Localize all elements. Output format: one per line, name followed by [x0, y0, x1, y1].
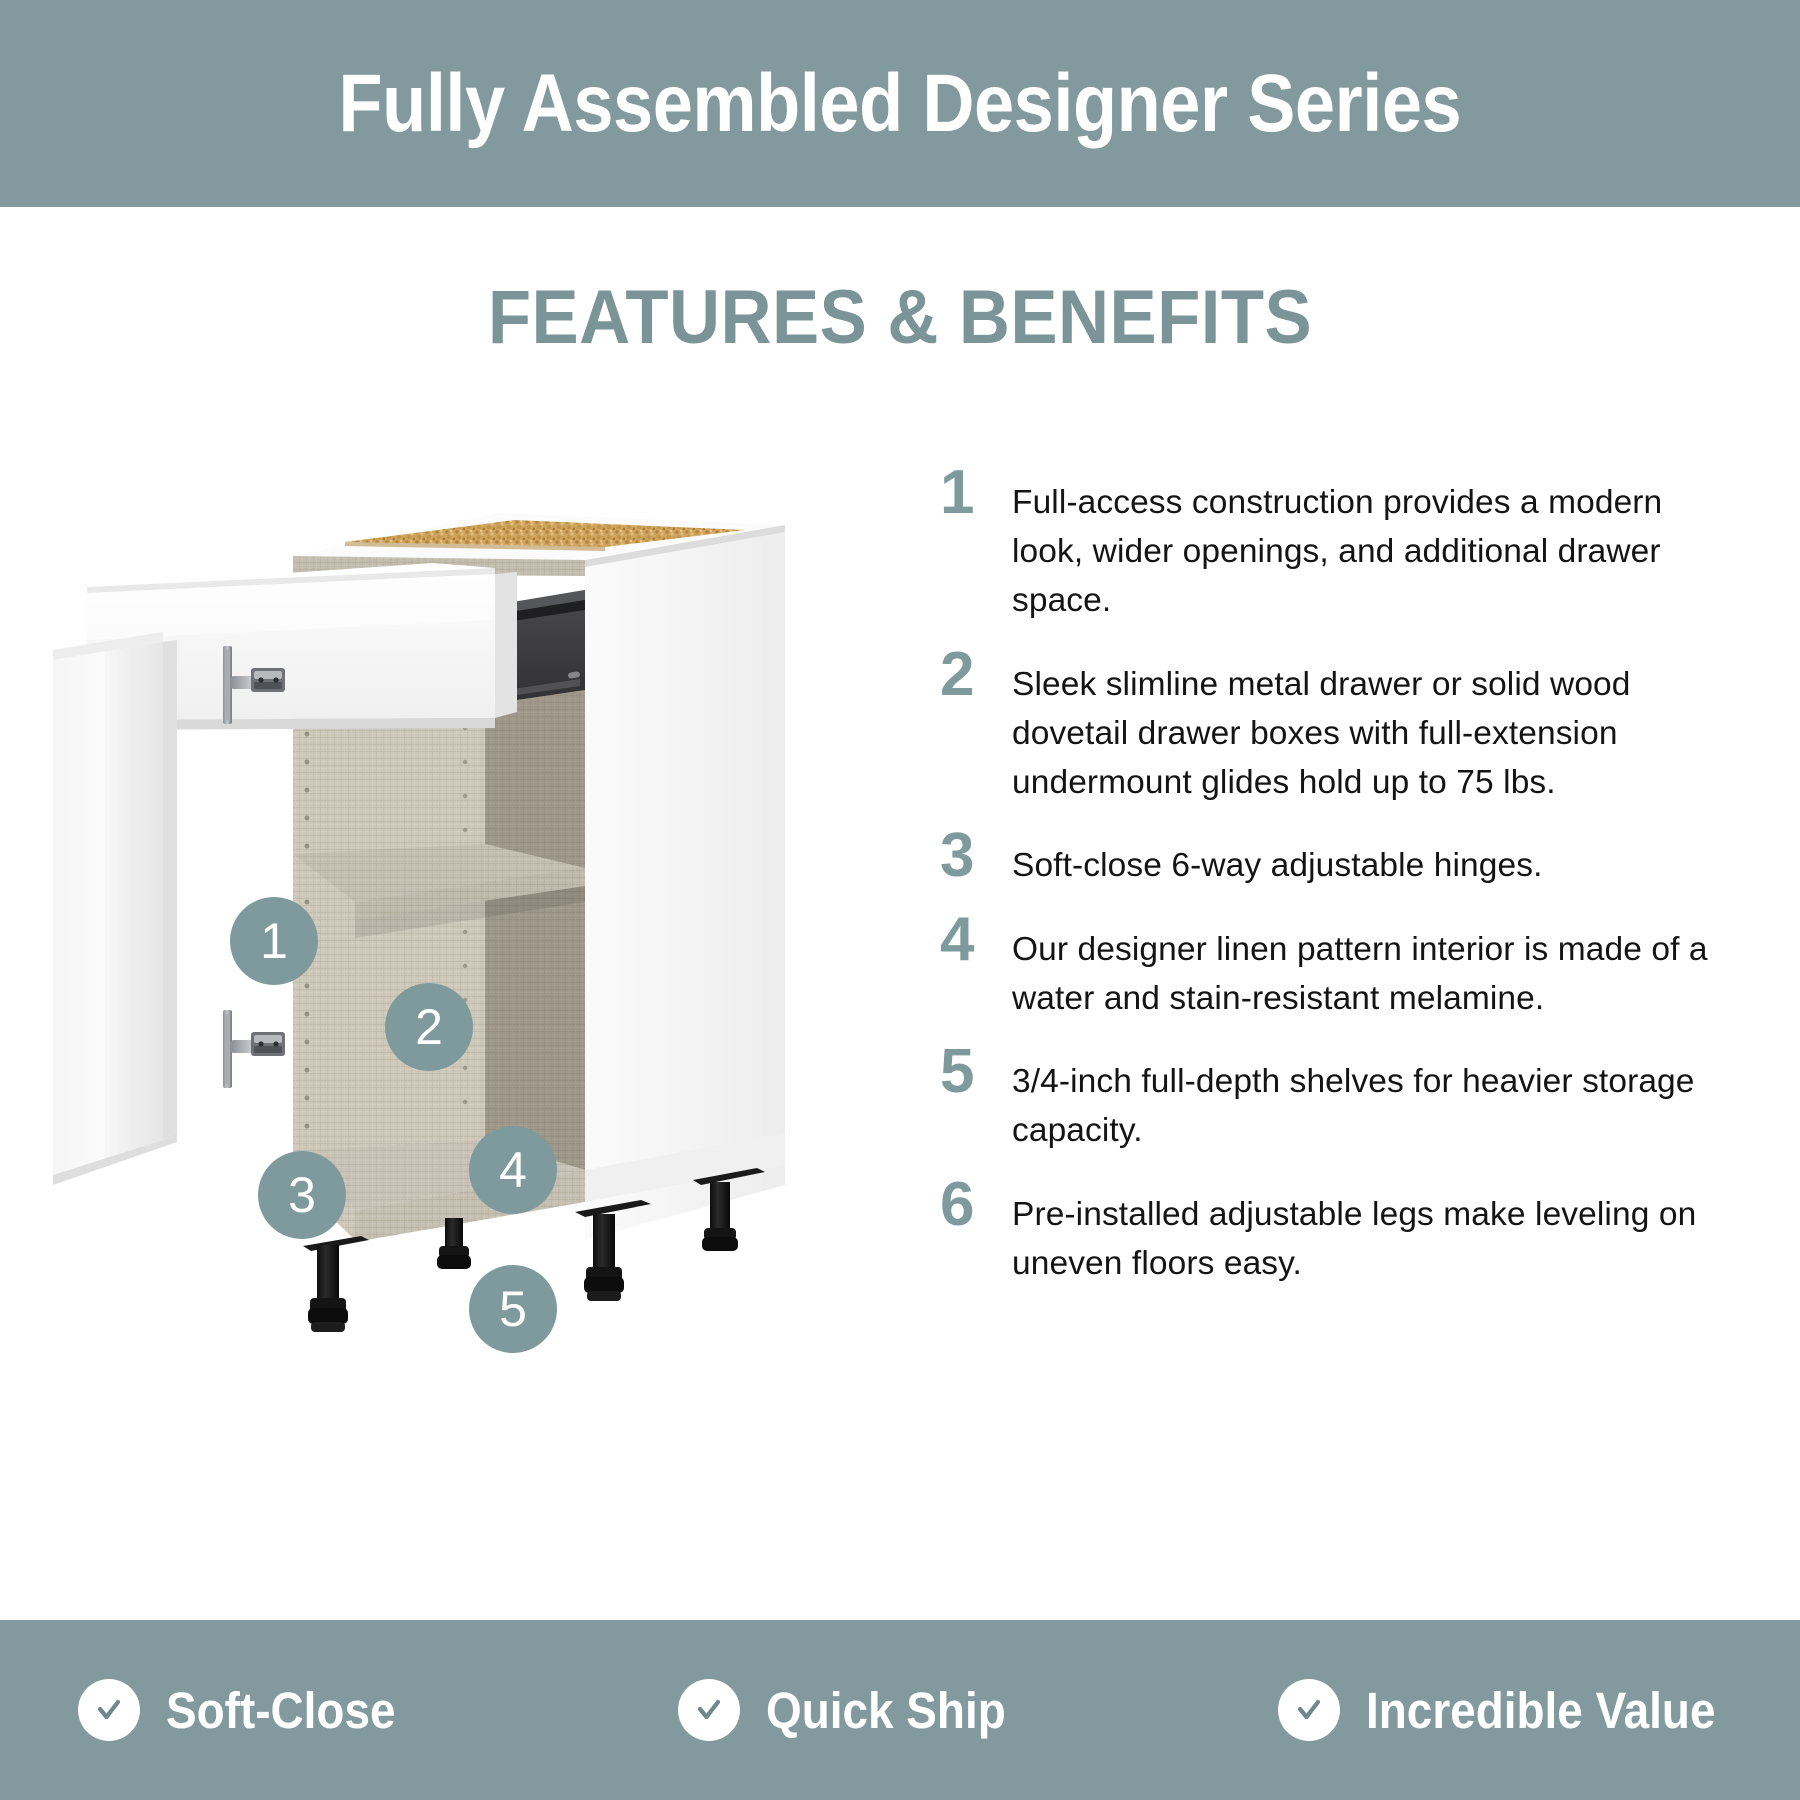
feature-number-6: 6 [940, 1174, 1012, 1235]
feature-item-2: 2 Sleek slimline metal drawer or solid w… [940, 644, 1740, 808]
feature-item-3: 3 Soft-close 6-way adjustable hinges. [940, 825, 1740, 890]
footer-item-quick-ship: Quick Ship [600, 1679, 1200, 1741]
feature-item-5: 5 3/4-inch full-depth shelves for heavie… [940, 1041, 1740, 1155]
feature-text-5: 3/4-inch full-depth shelves for heavier … [1012, 1041, 1740, 1155]
feature-number-3: 3 [940, 825, 1012, 886]
footer-item-soft-close: Soft-Close [0, 1679, 600, 1741]
feature-text-1: Full-access construction provides a mode… [1012, 462, 1740, 626]
callout-badge-5[interactable]: 5 [469, 1265, 557, 1353]
feature-number-1: 1 [940, 462, 1012, 523]
check-circle-icon [1278, 1679, 1340, 1741]
feature-item-6: 6 Pre-installed adjustable legs make lev… [940, 1174, 1740, 1288]
features-list: 1 Full-access construction provides a mo… [940, 462, 1740, 1306]
check-circle-icon [78, 1679, 140, 1741]
callout-badge-4[interactable]: 4 [469, 1126, 557, 1214]
infographic-page: Fully Assembled Designer Series FEATURES… [0, 0, 1800, 1800]
soft-close-hinge-lower [223, 1010, 285, 1088]
feature-text-4: Our designer linen pattern interior is m… [1012, 909, 1740, 1023]
callout-badge-2[interactable]: 2 [385, 983, 473, 1071]
footer-label-quick-ship: Quick Ship [766, 1685, 1006, 1736]
cabinet-door [53, 632, 177, 1185]
feature-text-2: Sleek slimline metal drawer or solid woo… [1012, 644, 1740, 808]
footer-label-incredible-value: Incredible Value [1366, 1685, 1715, 1736]
feature-text-3: Soft-close 6-way adjustable hinges. [1012, 825, 1740, 890]
callout-badge-3[interactable]: 3 [258, 1151, 346, 1239]
main-content: 1 2 3 4 5 6 1 Full-access construction p… [0, 400, 1800, 1600]
section-heading: FEATURES & BENEFITS [63, 276, 1737, 360]
feature-number-4: 4 [940, 909, 1012, 970]
footer-label-soft-close: Soft-Close [166, 1685, 396, 1736]
feature-item-4: 4 Our designer linen pattern interior is… [940, 909, 1740, 1023]
callout-badge-1[interactable]: 1 [230, 897, 318, 985]
page-title: Fully Assembled Designer Series [339, 63, 1462, 145]
product-illustration: 1 2 3 4 5 6 [45, 450, 845, 1450]
check-circle-icon [678, 1679, 740, 1741]
footer-item-incredible-value: Incredible Value [1200, 1679, 1800, 1741]
feature-number-5: 5 [940, 1041, 1012, 1102]
header-bar: Fully Assembled Designer Series [0, 0, 1800, 207]
feature-number-2: 2 [940, 644, 1012, 705]
footer-bar: Soft-Close Quick Ship Incredible Value [0, 1620, 1800, 1800]
feature-item-1: 1 Full-access construction provides a mo… [940, 462, 1740, 626]
feature-text-6: Pre-installed adjustable legs make level… [1012, 1174, 1740, 1288]
